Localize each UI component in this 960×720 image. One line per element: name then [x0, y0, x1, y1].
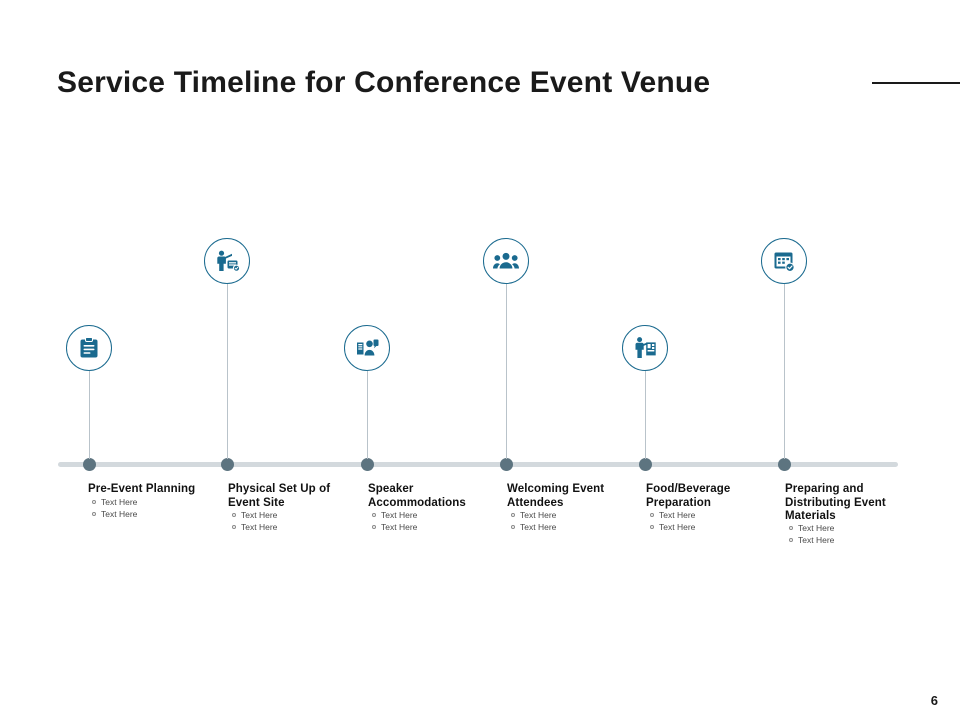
bullet-text: Text Here	[798, 534, 834, 546]
bullet-marker-icon	[232, 525, 236, 529]
people-group-icon[interactable]	[483, 238, 529, 284]
bullet-marker-icon	[92, 500, 96, 504]
timeline-axis	[58, 462, 898, 467]
bullet-item: Text Here	[232, 509, 352, 521]
waiter-serving-icon[interactable]	[622, 325, 668, 371]
timeline-stem	[784, 284, 785, 459]
bullet-item: Text Here	[511, 521, 631, 533]
timeline-node-bullets: Text Here Text Here	[232, 509, 352, 533]
timeline-node-label: Pre-Event Planning	[88, 483, 218, 497]
timeline-dot	[221, 458, 234, 471]
timeline-node-label: Food/Beverage Preparation	[646, 483, 776, 510]
bullet-item: Text Here	[511, 509, 631, 521]
bullet-item: Text Here	[789, 522, 909, 534]
timeline-dot	[500, 458, 513, 471]
timeline-node-bullets: Text Here Text Here	[650, 509, 770, 533]
bullet-marker-icon	[650, 525, 654, 529]
bullet-item: Text Here	[789, 534, 909, 546]
bullet-marker-icon	[232, 513, 236, 517]
timeline-stem	[89, 371, 90, 459]
person-presenting-icon[interactable]	[204, 238, 250, 284]
calendar-check-icon[interactable]	[761, 238, 807, 284]
timeline-dot	[778, 458, 791, 471]
bullet-item: Text Here	[372, 509, 492, 521]
bullet-text: Text Here	[101, 508, 137, 520]
bullet-item: Text Here	[650, 521, 770, 533]
bullet-item: Text Here	[232, 521, 352, 533]
timeline-dot	[83, 458, 96, 471]
timeline-node-label: Welcoming Event Attendees	[507, 483, 637, 510]
title-row: Service Timeline for Conference Event Ve…	[0, 32, 960, 78]
bullet-text: Text Here	[659, 521, 695, 533]
bullet-text: Text Here	[101, 496, 137, 508]
bullet-item: Text Here	[92, 496, 212, 508]
bullet-text: Text Here	[520, 521, 556, 533]
clipboard-icon[interactable]	[66, 325, 112, 371]
timeline-stem	[506, 284, 507, 459]
bullet-text: Text Here	[241, 521, 277, 533]
timeline-dot	[639, 458, 652, 471]
bullet-marker-icon	[789, 526, 793, 530]
bullet-text: Text Here	[659, 509, 695, 521]
timeline-node-label: Physical Set Up of Event Site	[228, 483, 358, 510]
bullet-marker-icon	[372, 525, 376, 529]
bullet-text: Text Here	[798, 522, 834, 534]
bullet-text: Text Here	[381, 521, 417, 533]
bullet-item: Text Here	[92, 508, 212, 520]
bullet-marker-icon	[789, 538, 793, 542]
bullet-text: Text Here	[381, 509, 417, 521]
timeline-node-label: Speaker Accommodations	[368, 483, 498, 510]
title-underline-rule	[872, 82, 960, 84]
timeline-dot	[361, 458, 374, 471]
bullet-marker-icon	[650, 513, 654, 517]
bullet-item: Text Here	[650, 509, 770, 521]
timeline-node-bullets: Text Here Text Here	[511, 509, 631, 533]
timeline-stem	[227, 284, 228, 459]
timeline-node-bullets: Text Here Text Here	[92, 496, 212, 520]
bullet-item: Text Here	[372, 521, 492, 533]
page-title: Service Timeline for Conference Event Ve…	[57, 66, 710, 100]
timeline-stem	[645, 371, 646, 459]
timeline-stem	[367, 371, 368, 459]
bullet-marker-icon	[511, 525, 515, 529]
timeline-node-bullets: Text Here Text Here	[789, 522, 909, 546]
timeline-node-bullets: Text Here Text Here	[372, 509, 492, 533]
bullet-text: Text Here	[520, 509, 556, 521]
speaker-podium-icon[interactable]	[344, 325, 390, 371]
page-number: 6	[931, 693, 938, 708]
bullet-marker-icon	[92, 512, 96, 516]
bullet-text: Text Here	[241, 509, 277, 521]
bullet-marker-icon	[511, 513, 515, 517]
slide-canvas: Service Timeline for Conference Event Ve…	[0, 0, 960, 720]
bullet-marker-icon	[372, 513, 376, 517]
timeline-node-label: Preparing and Distributing Event Materia…	[785, 483, 915, 524]
